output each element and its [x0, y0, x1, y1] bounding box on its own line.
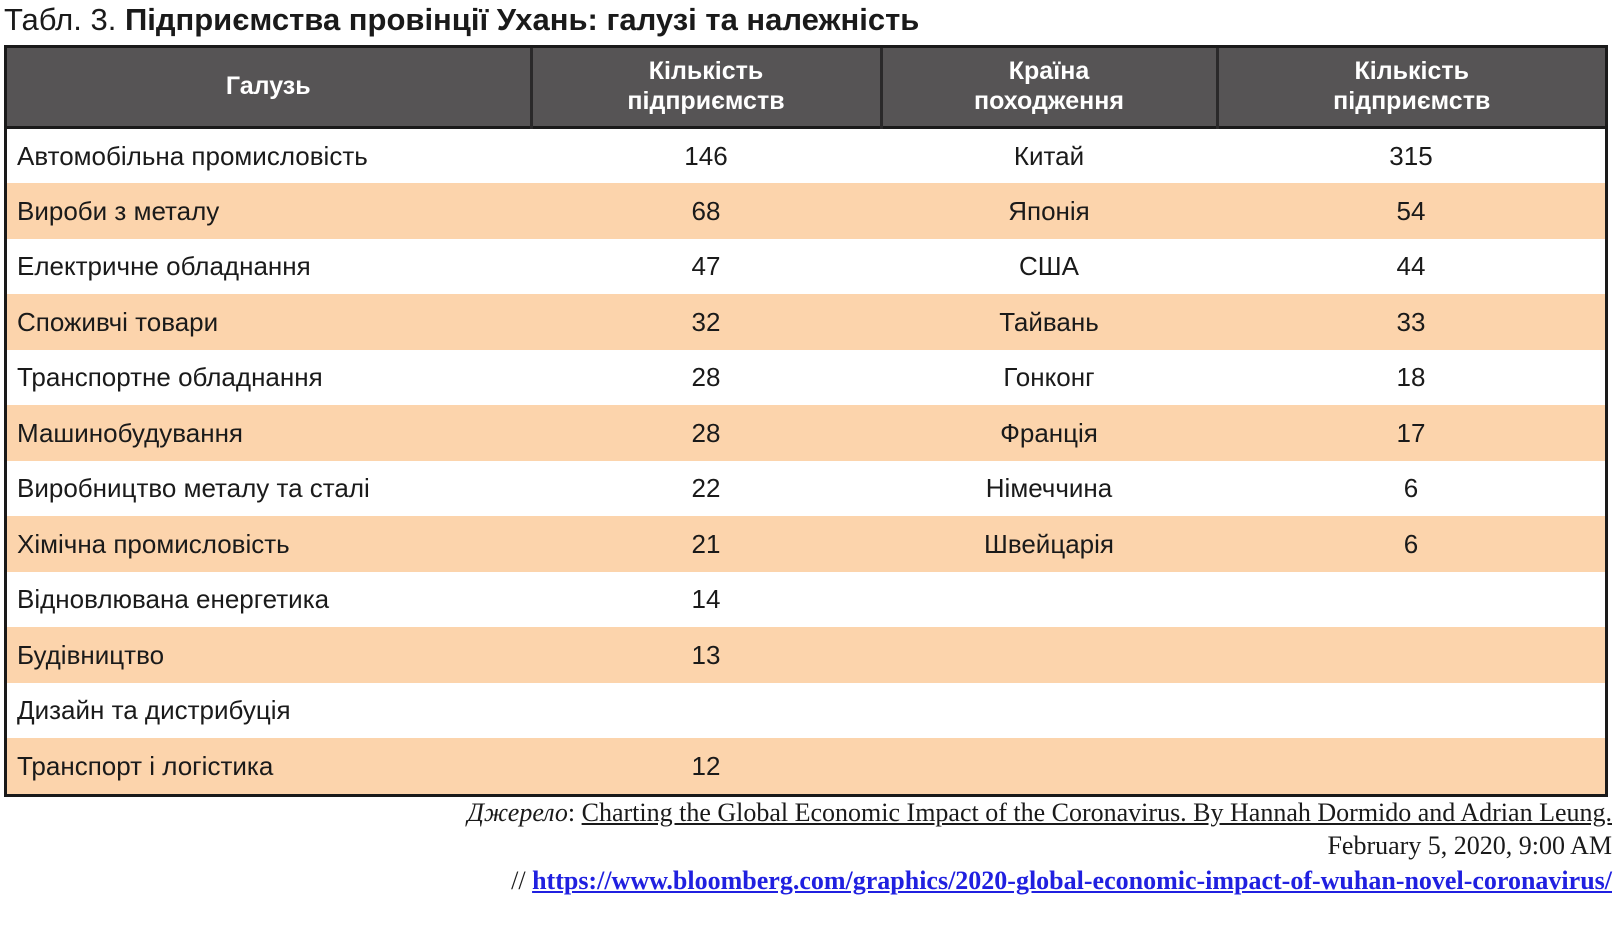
source-note: Джерело: Charting the Global Economic Im… [4, 796, 1612, 898]
table-caption-title: Підприємства провінції Ухань: галузі та … [125, 2, 919, 37]
cell-country: Тайвань [881, 294, 1217, 350]
cell-industry-count [531, 683, 881, 739]
cell-industry-count: 12 [531, 738, 881, 794]
source-line-2: February 5, 2020, 9:00 AM [4, 829, 1612, 862]
table-row: Вироби з металу68Японія54 [7, 183, 1605, 239]
column-header-industry-count-line2: підприємств [537, 86, 876, 116]
cell-country-count: 44 [1217, 239, 1605, 295]
cell-country: Швейцарія [881, 516, 1217, 572]
cell-country-count [1217, 738, 1605, 794]
source-separator: : [568, 798, 582, 827]
cell-industry: Транспорт і логістика [7, 738, 531, 794]
table-row: Автомобільна промисловість146Китай315 [7, 128, 1605, 184]
table-header-row: Галузь Кількість підприємств Країна похо… [7, 48, 1605, 128]
cell-country-count [1217, 683, 1605, 739]
cell-country [881, 627, 1217, 683]
column-header-industry-count: Кількість підприємств [531, 48, 881, 128]
cell-country: Китай [881, 128, 1217, 184]
cell-country [881, 683, 1217, 739]
source-date: February 5, 2020, 9:00 AM [1327, 831, 1612, 860]
table-row: Споживчі товари32Тайвань33 [7, 294, 1605, 350]
table-row: Машинобудування28Франція17 [7, 405, 1605, 461]
table-row: Відновлювана енергетика14 [7, 572, 1605, 628]
cell-industry: Машинобудування [7, 405, 531, 461]
cell-industry: Виробництво металу та сталі [7, 461, 531, 517]
table-row: Виробництво металу та сталі22Німеччина6 [7, 461, 1605, 517]
cell-country [881, 738, 1217, 794]
cell-country: Японія [881, 183, 1217, 239]
column-header-country-line1: Країна [1009, 57, 1089, 85]
column-header-country-count: Кількість підприємств [1217, 48, 1605, 128]
cell-country: США [881, 239, 1217, 295]
cell-country [881, 572, 1217, 628]
table-row: Електричне обладнання47США44 [7, 239, 1605, 295]
cell-country: Франція [881, 405, 1217, 461]
cell-industry-count: 14 [531, 572, 881, 628]
column-header-country: Країна походження [881, 48, 1217, 128]
cell-country-count: 33 [1217, 294, 1605, 350]
table-caption: Табл. 3. Підприємства провінції Ухань: г… [4, 0, 1612, 42]
data-table-container: Галузь Кількість підприємств Країна похо… [4, 45, 1608, 797]
table-row: Будівництво13 [7, 627, 1605, 683]
cell-industry: Відновлювана енергетика [7, 572, 531, 628]
source-url-prefix: // [511, 866, 532, 895]
table-header: Галузь Кількість підприємств Країна похо… [7, 48, 1605, 128]
cell-industry-count: 28 [531, 350, 881, 406]
cell-country-count [1217, 572, 1605, 628]
cell-industry-count: 47 [531, 239, 881, 295]
cell-country-count: 6 [1217, 516, 1605, 572]
column-header-country-count-line1: Кількість [1355, 57, 1469, 85]
table-row: Транспортне обладнання28Гонконг18 [7, 350, 1605, 406]
source-line-1: Джерело: Charting the Global Economic Im… [4, 796, 1612, 829]
data-table: Галузь Кількість підприємств Країна похо… [7, 48, 1605, 794]
column-header-industry-count-line1: Кількість [649, 57, 763, 85]
cell-country-count [1217, 627, 1605, 683]
cell-country-count: 54 [1217, 183, 1605, 239]
cell-country-count: 6 [1217, 461, 1605, 517]
cell-industry-count: 13 [531, 627, 881, 683]
table-body: Автомобільна промисловість146Китай315Вир… [7, 128, 1605, 794]
cell-country: Гонконг [881, 350, 1217, 406]
cell-industry: Автомобільна промисловість [7, 128, 531, 184]
cell-industry: Електричне обладнання [7, 239, 531, 295]
source-label: Джерело [467, 798, 567, 827]
table-row: Хімічна промисловість21Швейцарія6 [7, 516, 1605, 572]
cell-industry: Дизайн та дистрибуція [7, 683, 531, 739]
cell-industry-count: 68 [531, 183, 881, 239]
source-text: Charting the Global Economic Impact of t… [582, 798, 1612, 827]
cell-industry-count: 22 [531, 461, 881, 517]
source-url-line: // https://www.bloomberg.com/graphics/20… [4, 864, 1612, 898]
cell-industry-count: 32 [531, 294, 881, 350]
cell-country-count: 18 [1217, 350, 1605, 406]
column-header-country-line2: походження [887, 86, 1212, 116]
cell-industry: Транспортне обладнання [7, 350, 531, 406]
cell-country-count: 17 [1217, 405, 1605, 461]
cell-industry-count: 21 [531, 516, 881, 572]
cell-country-count: 315 [1217, 128, 1605, 184]
column-header-industry: Галузь [7, 48, 531, 128]
column-header-country-count-line2: підприємств [1223, 86, 1602, 116]
cell-country: Німеччина [881, 461, 1217, 517]
cell-industry: Хімічна промисловість [7, 516, 531, 572]
table-row: Транспорт і логістика12 [7, 738, 1605, 794]
cell-industry: Споживчі товари [7, 294, 531, 350]
cell-industry: Будівництво [7, 627, 531, 683]
cell-industry: Вироби з металу [7, 183, 531, 239]
cell-industry-count: 28 [531, 405, 881, 461]
table-caption-prefix: Табл. 3. [4, 2, 125, 37]
cell-industry-count: 146 [531, 128, 881, 184]
source-url-link[interactable]: https://www.bloomberg.com/graphics/2020-… [532, 866, 1612, 895]
column-header-industry-line1: Галузь [226, 72, 311, 100]
table-page: Табл. 3. Підприємства провінції Ухань: г… [0, 0, 1616, 937]
table-row: Дизайн та дистрибуція [7, 683, 1605, 739]
